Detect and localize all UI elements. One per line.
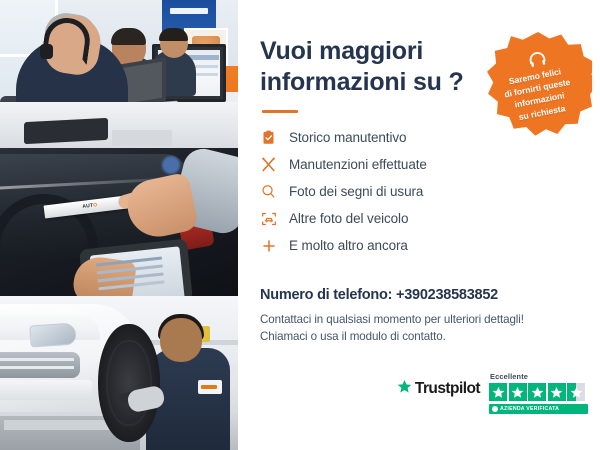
star-5-half-icon <box>567 383 585 401</box>
contact-instructions: Contattaci in qualsiasi momento per ulte… <box>260 311 578 346</box>
list-item: E molto altro ancora <box>260 232 578 259</box>
feature-label: Storico manutentivo <box>289 130 406 145</box>
check-icon <box>492 406 498 412</box>
star-2-icon <box>509 383 527 401</box>
contact-line-2: Chiamaci o usa il modulo di contatto. <box>260 330 446 343</box>
list-item: Manutenzioni effettuate <box>260 151 578 178</box>
callout-badge: Saremo felici di fornirti queste informa… <box>484 32 592 140</box>
promo-card: AUTO <box>0 0 600 450</box>
clipboard-check-icon <box>260 129 277 146</box>
star-1-icon <box>489 383 507 401</box>
feature-label: Foto dei segni di usura <box>289 184 423 199</box>
list-item: Altre foto del veicolo <box>260 205 578 232</box>
title-line-1: Vuoi maggiori <box>260 37 423 65</box>
feature-label: Altre foto del veicolo <box>289 211 408 226</box>
star-3-icon <box>528 383 546 401</box>
feature-label: Manutenzioni effettuate <box>289 157 427 172</box>
rating-label: Eccellente <box>490 372 528 381</box>
trustpilot-rating: Eccellente <box>489 372 588 414</box>
trustpilot-star-icon <box>397 379 412 399</box>
title-line-2: informazioni su ? <box>260 68 464 96</box>
star-rating <box>489 383 585 401</box>
contact-line-1: Contattaci in qualsiasi momento per ulte… <box>260 313 524 326</box>
tyre-service-technician-photo <box>0 296 238 450</box>
content-panel: Vuoi maggiori informazioni su ? Storico … <box>238 0 600 450</box>
title-underline-rule <box>262 110 298 113</box>
verified-label: AZIENDA VERIFICATA <box>500 406 559 412</box>
star-4-icon <box>548 383 566 401</box>
tools-cross-icon <box>260 156 277 173</box>
car-scan-icon <box>260 210 277 227</box>
phone-number[interactable]: Numero di telefono: +390238583852 <box>260 287 578 303</box>
vehicle-bumper-inspection-photo: AUTO <box>0 148 238 296</box>
plus-icon <box>260 237 277 254</box>
page-title: Vuoi maggiori informazioni su ? <box>260 36 475 97</box>
trustpilot-logo: Trustpilot <box>397 372 480 399</box>
trustpilot-widget[interactable]: Trustpilot Eccellente <box>397 372 588 414</box>
trustpilot-wordmark: Trustpilot <box>415 380 480 398</box>
photo-column: AUTO <box>0 0 238 450</box>
list-item: Foto dei segni di usura <box>260 178 578 205</box>
magnifier-icon <box>260 183 277 200</box>
call-center-operators-photo <box>0 0 238 148</box>
feature-label: E molto altro ancora <box>289 238 408 253</box>
feature-list: Storico manutentivo Manutenzioni effettu… <box>260 124 578 259</box>
verified-company-badge: AZIENDA VERIFICATA <box>489 404 588 414</box>
